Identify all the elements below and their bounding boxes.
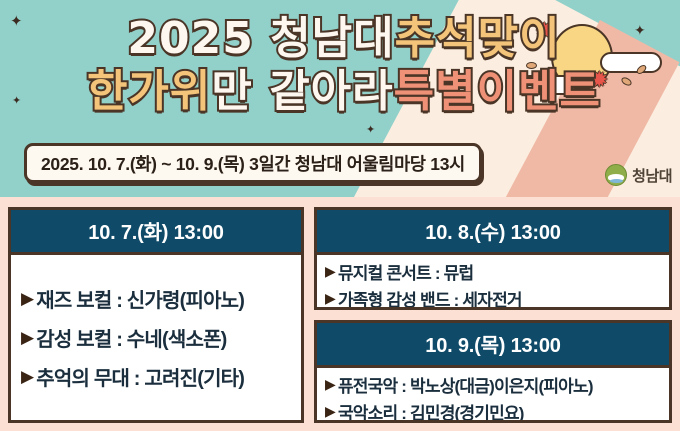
- bullet-triangle-icon: ▶: [21, 289, 33, 309]
- schedule-entry-label: 퓨전국악 : 박노상(대금)이은지(피아노): [338, 372, 593, 397]
- panel-header-day3: 10. 9.(목) 13:00: [317, 323, 669, 368]
- cheongnamdae-emblem-icon: [605, 164, 627, 186]
- title-seg-hangawi: 한가위: [87, 67, 211, 116]
- schedule-panels: 10. 7.(화) 13:00 ▶ 재즈 보컬 : 신가령(피아노) ▶ 감성 …: [8, 207, 672, 423]
- event-poster: ✹ ✹ ✦ ✦ ✦ ✦ ✦ ✦ 2025 청남대 추석맞이 한가위만 같아라 특…: [0, 0, 680, 431]
- schedule-entry: ▶ 뮤지컬 콘서트 : 뮤럽: [325, 259, 661, 284]
- poster-title: 2025 청남대 추석맞이 한가위만 같아라 특별이벤트: [0, 14, 680, 117]
- schedule-entry-label: 재즈 보컬 : 신가령(피아노): [36, 284, 244, 313]
- panel-body-day2: ▶ 뮤지컬 콘서트 : 뮤럽 ▶ 가족형 감성 밴드 : 세자전거: [317, 255, 669, 310]
- schedule-entry-label: 추억의 무대 : 고려진(기타): [36, 362, 244, 391]
- bullet-triangle-icon: ▶: [325, 291, 335, 307]
- poster-header-area: ✹ ✹ ✦ ✦ ✦ ✦ ✦ ✦ 2025 청남대 추석맞이 한가위만 같아라 특…: [0, 0, 680, 205]
- schedule-area: 10. 7.(화) 13:00 ▶ 재즈 보컬 : 신가령(피아노) ▶ 감성 …: [0, 197, 680, 431]
- panel-header-day1: 10. 7.(화) 13:00: [11, 210, 301, 255]
- schedule-entry-label: 가족형 감성 밴드 : 세자전거: [338, 286, 522, 310]
- schedule-entry: ▶ 가족형 감성 밴드 : 세자전거: [325, 286, 661, 310]
- schedule-entry-label: 감성 보컬 : 수네(색소폰): [36, 323, 226, 352]
- schedule-panel-day2: 10. 8.(수) 13:00 ▶ 뮤지컬 콘서트 : 뮤럽 ▶ 가족형 감성 …: [314, 207, 672, 310]
- title-seg-year-place: 2025 청남대: [127, 14, 394, 63]
- title-line-2: 한가위만 같아라 특별이벤트: [0, 67, 680, 116]
- panel-header-day2: 10. 8.(수) 13:00: [317, 210, 669, 255]
- schedule-entry: ▶ 퓨전국악 : 박노상(대금)이은지(피아노): [325, 372, 661, 397]
- logo-label: 청남대: [632, 165, 672, 186]
- bullet-triangle-icon: ▶: [21, 328, 33, 348]
- schedule-column-right: 10. 8.(수) 13:00 ▶ 뮤지컬 콘서트 : 뮤럽 ▶ 가족형 감성 …: [314, 207, 672, 423]
- schedule-entry-label: 국악소리 : 김민경(경기민요): [338, 399, 524, 423]
- sparkle-icon: ✦: [366, 124, 375, 135]
- bullet-triangle-icon: ▶: [325, 377, 335, 393]
- schedule-column-left: 10. 7.(화) 13:00 ▶ 재즈 보컬 : 신가령(피아노) ▶ 감성 …: [8, 207, 304, 423]
- title-seg-special-event: 특별이벤트: [394, 67, 601, 116]
- bullet-triangle-icon: ▶: [325, 404, 335, 420]
- schedule-entry-label: 뮤지컬 콘서트 : 뮤럽: [338, 259, 473, 284]
- organization-logo: 청남대: [605, 164, 672, 186]
- schedule-entry: ▶ 국악소리 : 김민경(경기민요): [325, 399, 661, 423]
- schedule-entry: ▶ 감성 보컬 : 수네(색소폰): [21, 323, 291, 352]
- schedule-panel-day3: 10. 9.(목) 13:00 ▶ 퓨전국악 : 박노상(대금)이은지(피아노)…: [314, 320, 672, 423]
- schedule-entry: ▶ 추억의 무대 : 고려진(기타): [21, 362, 291, 391]
- schedule-entry: ▶ 재즈 보컬 : 신가령(피아노): [21, 284, 291, 313]
- panel-body-day1: ▶ 재즈 보컬 : 신가령(피아노) ▶ 감성 보컬 : 수네(색소폰) ▶ 추…: [11, 255, 301, 420]
- title-seg-chuseok: 추석맞이: [395, 14, 561, 63]
- date-location-banner: 2025. 10. 7.(화) ~ 10. 9.(목) 3일간 청남대 어울림마…: [24, 143, 482, 183]
- title-seg-gatarara: 만 같아라: [211, 67, 393, 116]
- schedule-panel-day1: 10. 7.(화) 13:00 ▶ 재즈 보컬 : 신가령(피아노) ▶ 감성 …: [8, 207, 304, 423]
- bullet-triangle-icon: ▶: [325, 264, 335, 280]
- title-line-1: 2025 청남대 추석맞이: [0, 14, 680, 63]
- panel-body-day3: ▶ 퓨전국악 : 박노상(대금)이은지(피아노) ▶ 국악소리 : 김민경(경기…: [317, 368, 669, 423]
- bullet-triangle-icon: ▶: [21, 367, 33, 387]
